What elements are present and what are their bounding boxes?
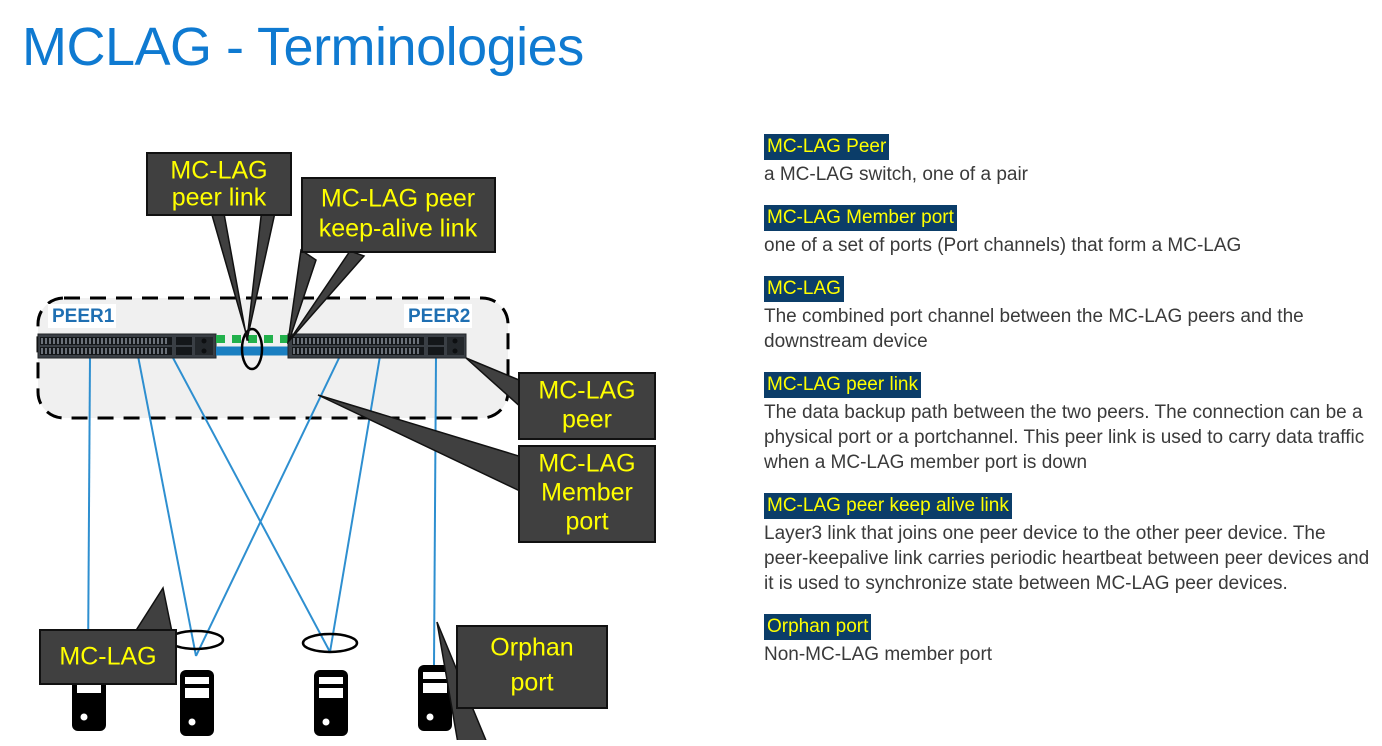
peer1-label: PEER1 (48, 304, 116, 328)
glossary-definition: The combined port channel between the MC… (764, 304, 1372, 354)
glossary-definition: one of a set of ports (Port channels) th… (764, 233, 1372, 258)
callout-member-port-line2: Member (541, 479, 633, 507)
glossary-term: Orphan port (764, 614, 871, 640)
page-title: MCLAG - Terminologies (22, 16, 584, 78)
server-2 (180, 670, 214, 736)
glossary-entry-mclag-member-port: MC-LAG Member port one of a set of ports… (764, 205, 1372, 258)
glossary-term: MC-LAG peer link (764, 372, 921, 398)
glossary-definition: Layer3 link that joins one peer device t… (764, 521, 1372, 596)
glossary-entry-orphan-port: Orphan port Non-MC-LAG member port (764, 614, 1372, 667)
server-3 (314, 670, 348, 736)
terminology-glossary: MC-LAG Peer a MC-LAG switch, one of a pa… (764, 134, 1372, 685)
peer1-label-text: PEER1 (52, 306, 115, 327)
lag-bundle-oval-1 (169, 631, 223, 649)
callout-keepalive-line1: MC-LAG peer (321, 185, 475, 213)
callout-peer-link-line1: MC-LAG (170, 157, 267, 185)
peer2-label: PEER2 (404, 304, 472, 328)
glossary-term: MC-LAG Peer (764, 134, 889, 160)
glossary-entry-mclag: MC-LAG The combined port channel between… (764, 276, 1372, 354)
glossary-entry-mclag-peer: MC-LAG Peer a MC-LAG switch, one of a pa… (764, 134, 1372, 187)
callout-member-port-line1: MC-LAG (538, 450, 635, 478)
glossary-term: MC-LAG Member port (764, 205, 957, 231)
callout-orphan-port-line1: Orphan (490, 634, 573, 662)
glossary-entry-mclag-peer-keep-alive-link: MC-LAG peer keep alive link Layer3 link … (764, 493, 1372, 596)
callout-mclag: MC-LAG (40, 588, 176, 684)
glossary-definition: Non-MC-LAG member port (764, 642, 1372, 667)
callout-mclag-peer-line1: MC-LAG (538, 377, 635, 405)
switch-peer2 (288, 334, 466, 358)
glossary-entry-mclag-peer-link: MC-LAG peer link The data backup path be… (764, 372, 1372, 475)
callout-mclag-line1: MC-LAG (59, 643, 156, 671)
glossary-term: MC-LAG peer keep alive link (764, 493, 1012, 519)
glossary-term: MC-LAG (764, 276, 844, 302)
callout-mclag-peer-line2: peer (562, 406, 612, 434)
callout-orphan-port: Orphan port (437, 622, 607, 740)
mclag-topology-diagram: PEER1 (0, 120, 700, 740)
glossary-definition: The data backup path between the two pee… (764, 400, 1372, 475)
topology-svg: PEER1 (0, 120, 700, 740)
switch-peer1 (38, 334, 216, 358)
peer2-label-text: PEER2 (408, 306, 470, 327)
callout-member-port-line3: port (565, 508, 608, 536)
glossary-definition: a MC-LAG switch, one of a pair (764, 162, 1372, 187)
callout-orphan-port-line2: port (510, 669, 553, 697)
callout-peer-link-line2: peer link (172, 184, 267, 212)
callout-keepalive-line2: keep-alive link (319, 215, 478, 243)
